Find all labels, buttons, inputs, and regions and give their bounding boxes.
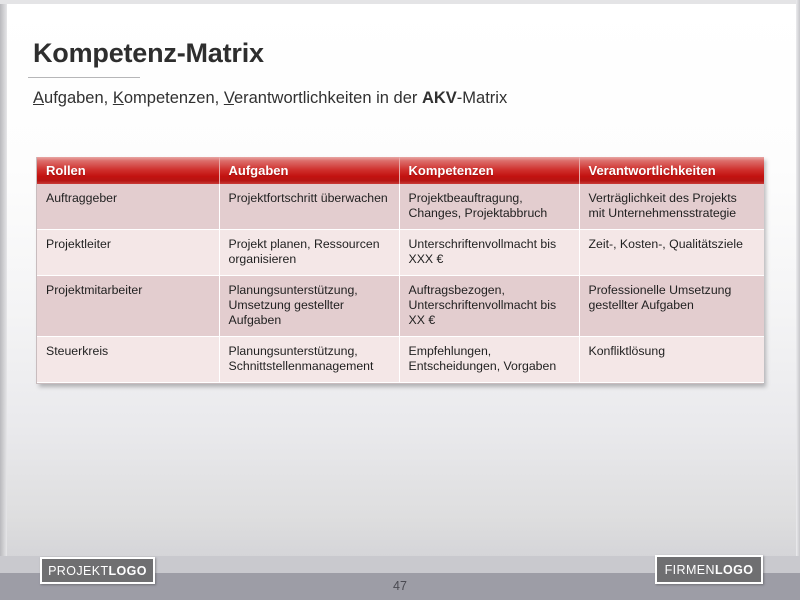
cell-verantwortlichkeiten: Zeit-, Kosten-, Qualitätsziele xyxy=(579,230,764,276)
cell-rolle: Auftraggeber xyxy=(37,184,219,230)
table-header-row: Rollen Aufgaben Kompetenzen Verantwortli… xyxy=(37,157,764,184)
cell-rolle: Steuerkreis xyxy=(37,337,219,383)
cell-aufgaben: Planungsunterstützung, Schnittstellenman… xyxy=(219,337,399,383)
table-body: Auftraggeber Projektfortschritt überwach… xyxy=(37,184,764,383)
title-divider-rule xyxy=(28,77,140,78)
company-logo-bold: LOGO xyxy=(715,563,753,577)
subtitle-a-rest: ufgaben, xyxy=(44,89,113,107)
competence-matrix-table: Rollen Aufgaben Kompetenzen Verantwortli… xyxy=(37,157,764,383)
company-logo: FIRMENLOGO xyxy=(655,555,763,584)
subtitle-v-rest: erantwortlichkeiten in der xyxy=(234,89,422,107)
table-row: Auftraggeber Projektfortschritt überwach… xyxy=(37,184,764,230)
project-logo: PROJEKTLOGO xyxy=(40,557,155,584)
cell-rolle: Projektmitarbeiter xyxy=(37,276,219,337)
company-logo-normal: FIRMEN xyxy=(665,563,715,577)
cell-verantwortlichkeiten: Konfliktlösung xyxy=(579,337,764,383)
subtitle-k-rest: ompetenzen, xyxy=(124,89,224,107)
cell-kompetenzen: Empfehlungen, Entscheidungen, Vorgaben xyxy=(399,337,579,383)
subtitle-akv-rest: -Matrix xyxy=(457,89,507,107)
table-row: Projektleiter Projekt planen, Ressourcen… xyxy=(37,230,764,276)
subtitle-v-initial: V xyxy=(224,89,234,107)
slide-frame-left xyxy=(0,0,7,600)
column-header-aufgaben[interactable]: Aufgaben xyxy=(219,157,399,184)
project-logo-normal: PROJEKT xyxy=(48,564,108,578)
cell-kompetenzen: Auftragsbezogen, Unterschriftenvollmacht… xyxy=(399,276,579,337)
slide-canvas: Kompetenz-Matrix Aufgaben, Kompetenzen, … xyxy=(0,0,800,600)
slide-frame-top xyxy=(0,0,800,4)
cell-verantwortlichkeiten: Professionelle Umsetzung gestellter Aufg… xyxy=(579,276,764,337)
column-header-verantwortlichkeiten[interactable]: Verantwortlichkeiten xyxy=(579,157,764,184)
cell-verantwortlichkeiten: Verträglichkeit des Projekts mit Unterne… xyxy=(579,184,764,230)
competence-matrix-container: Rollen Aufgaben Kompetenzen Verantwortli… xyxy=(36,157,763,384)
cell-rolle: Projektleiter xyxy=(37,230,219,276)
cell-aufgaben: Planungsunterstützung, Umsetzung gestell… xyxy=(219,276,399,337)
cell-aufgaben: Projekt planen, Ressourcen organisieren xyxy=(219,230,399,276)
cell-kompetenzen: Unterschriftenvollmacht bis XXX € xyxy=(399,230,579,276)
column-header-rollen[interactable]: Rollen xyxy=(37,157,219,184)
cell-kompetenzen: Projektbeauftragung, Changes, Projektabb… xyxy=(399,184,579,230)
column-header-kompetenzen[interactable]: Kompetenzen xyxy=(399,157,579,184)
project-logo-bold: LOGO xyxy=(109,564,147,578)
subtitle-akv-bold: AKV xyxy=(422,89,457,107)
page-subtitle: Aufgaben, Kompetenzen, Verantwortlichkei… xyxy=(33,89,507,108)
cell-aufgaben: Projektfortschritt überwachen xyxy=(219,184,399,230)
slide-frame-right xyxy=(796,0,800,600)
page-title: Kompetenz-Matrix xyxy=(33,38,264,69)
table-header: Rollen Aufgaben Kompetenzen Verantwortli… xyxy=(37,157,764,184)
subtitle-k-initial: K xyxy=(113,89,124,107)
subtitle-a-initial: A xyxy=(33,89,44,107)
table-row: Projektmitarbeiter Planungsunterstützung… xyxy=(37,276,764,337)
table-row: Steuerkreis Planungsunterstützung, Schni… xyxy=(37,337,764,383)
